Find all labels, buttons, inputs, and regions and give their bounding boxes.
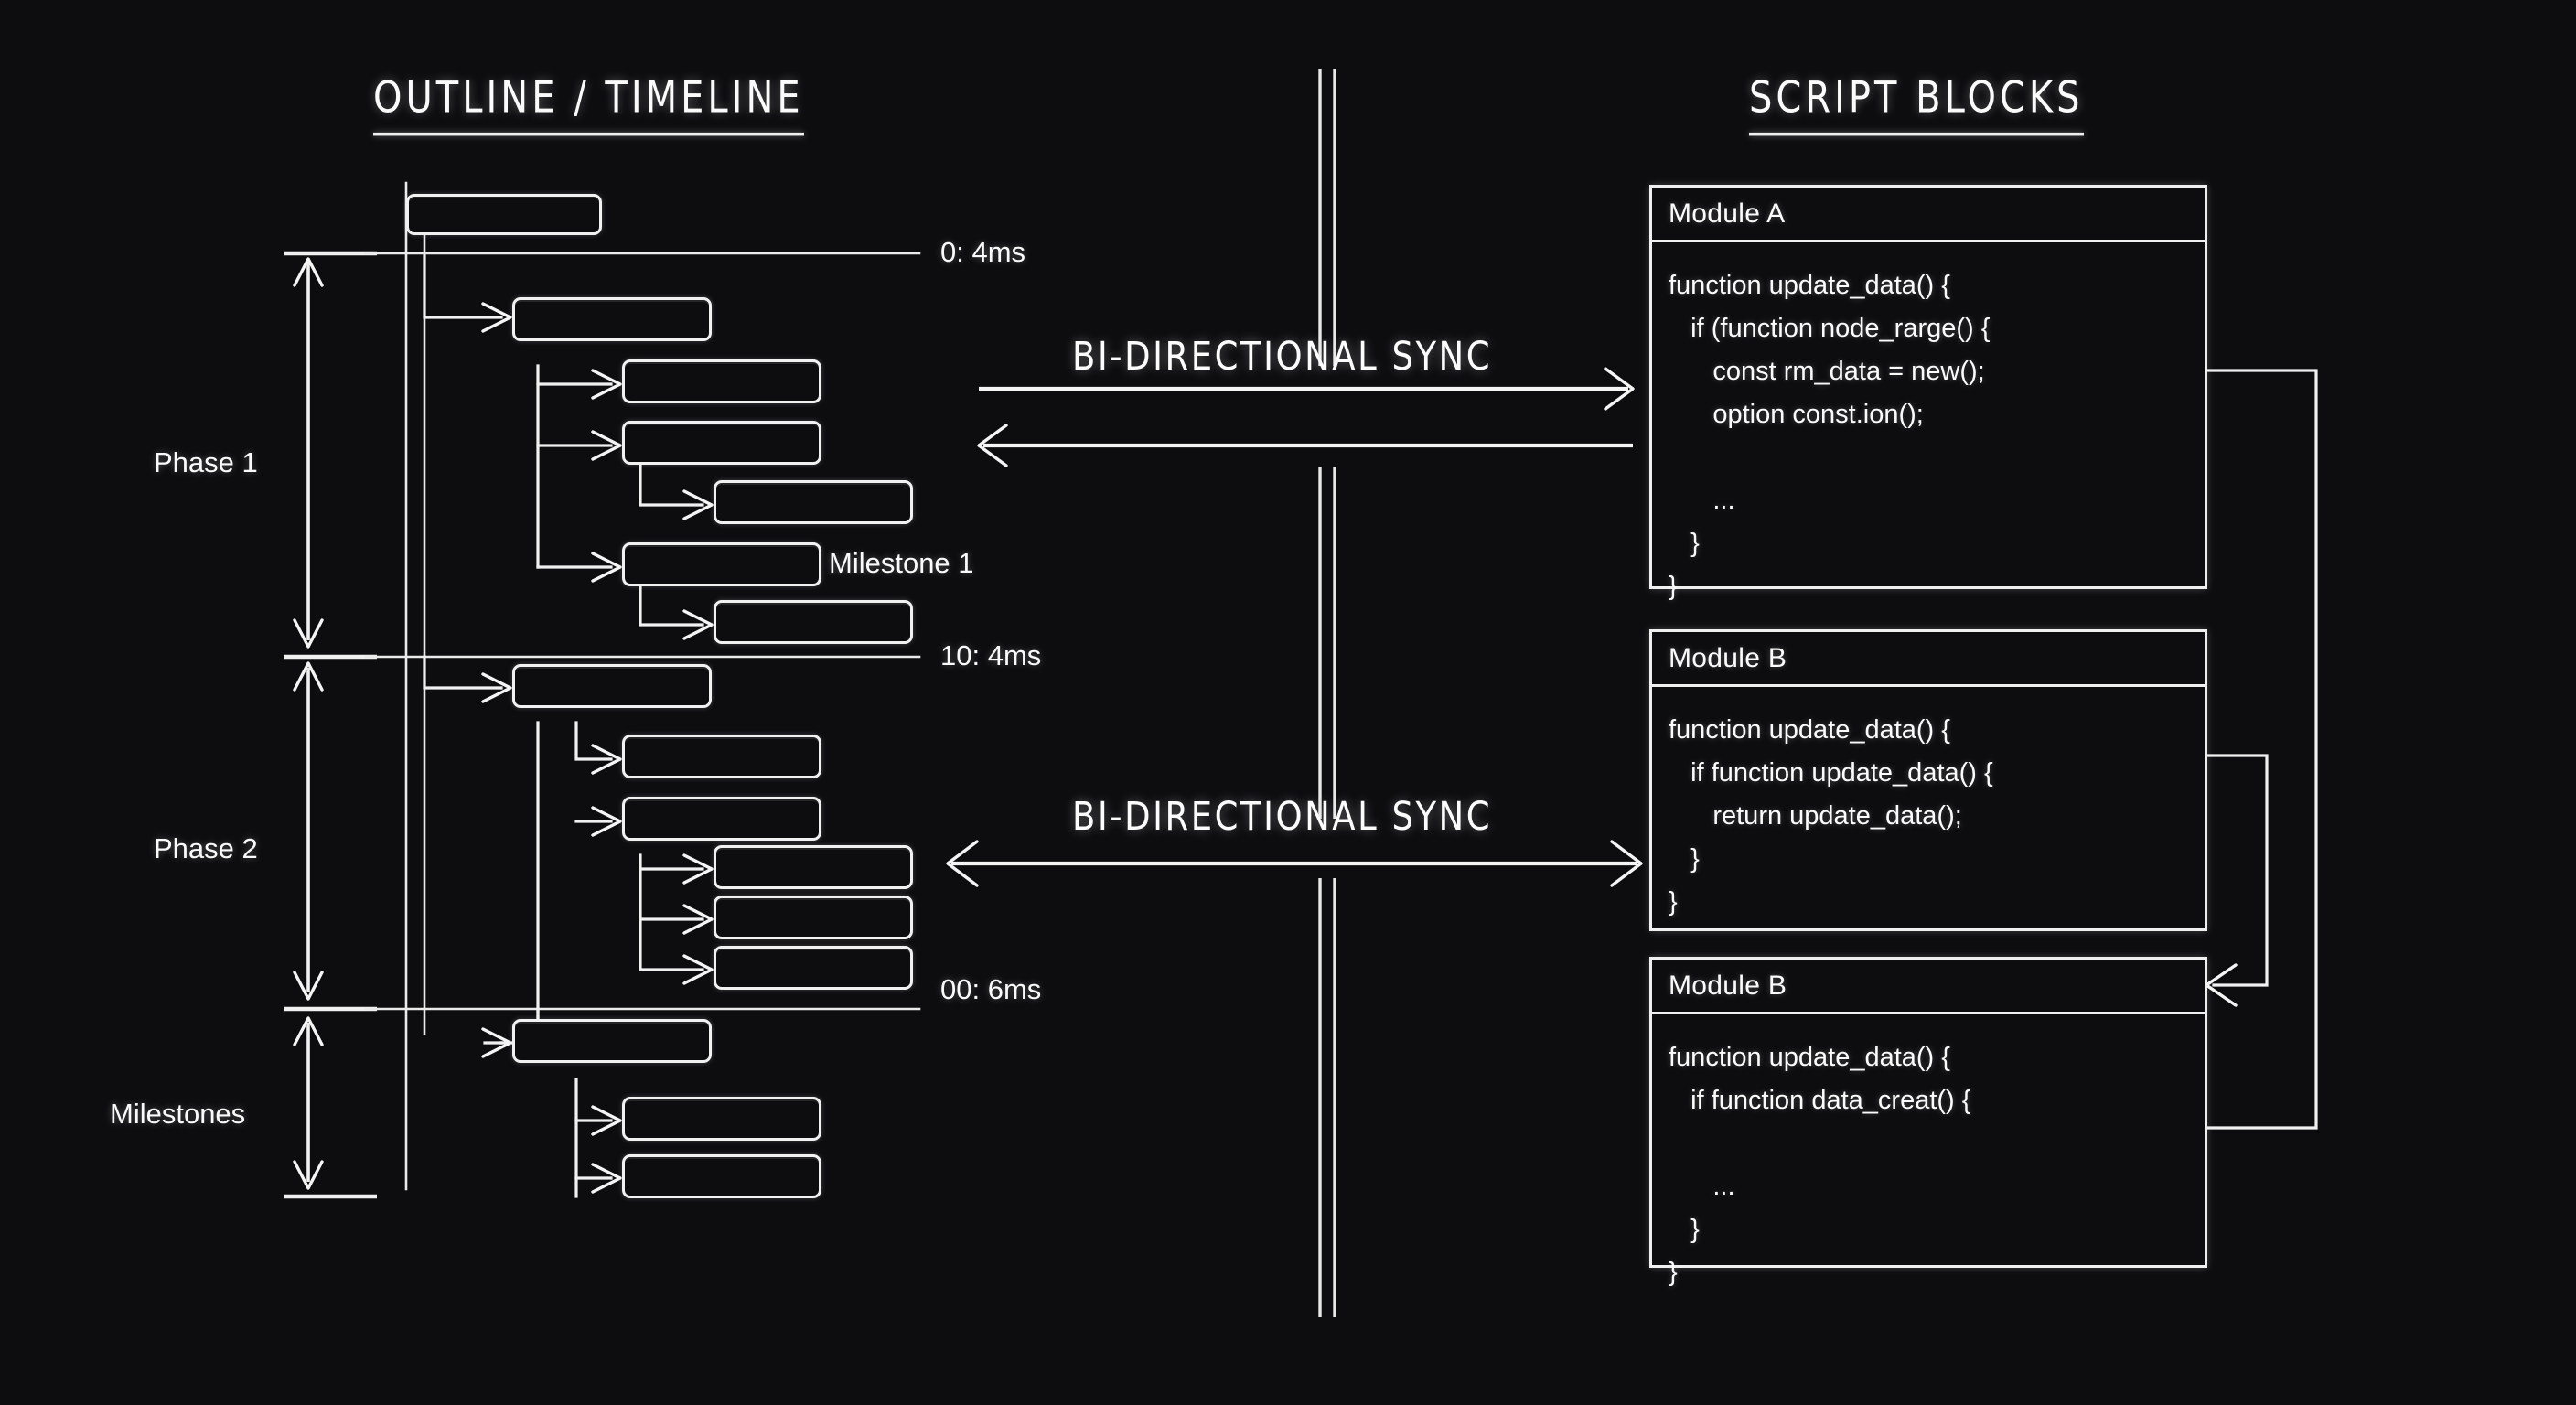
- module-card-b2[interactable]: Module B function update_data() { if fun…: [1649, 957, 2207, 1268]
- code-line: }: [1669, 838, 2205, 881]
- module-card-a[interactable]: Module A function update_data() { if (fu…: [1649, 185, 2207, 589]
- code-line: [1669, 1122, 2205, 1165]
- code-line: }: [1669, 1251, 2205, 1294]
- outline-node-p2-f[interactable]: [714, 946, 913, 990]
- outline-node-p1-f[interactable]: [714, 600, 913, 644]
- module-title-b1: Module B: [1669, 643, 1787, 674]
- outline-spine: [406, 183, 424, 1189]
- tree-connectors-phase2: [424, 657, 712, 1043]
- module-title-b2: Module B: [1669, 971, 1787, 1002]
- panel-title-script-blocks-text: SCRIPT BLOCKS: [1749, 73, 2084, 123]
- panel-title-script-blocks-rule: [1749, 133, 2084, 136]
- module-feedback-wires: [2206, 370, 2316, 1128]
- module-header-b1: Module B: [1652, 632, 2205, 687]
- module-body-b2: function update_data() { if function dat…: [1652, 1014, 2205, 1294]
- code-line: if function data_creat() {: [1669, 1079, 2205, 1122]
- panel-title-outline-text: OUTLINE / TIMELINE: [373, 73, 804, 123]
- code-line: }: [1669, 1208, 2205, 1251]
- phase-label-milestones: Milestones: [110, 1098, 245, 1131]
- module-header-a: Module A: [1652, 188, 2205, 242]
- outline-node-p2-d[interactable]: [714, 845, 913, 889]
- time-marker-2: 00: 6ms: [940, 973, 1041, 1006]
- outline-node-p1-a[interactable]: [512, 297, 712, 341]
- code-line: }: [1669, 522, 2205, 565]
- code-line: function update_data() {: [1669, 1036, 2205, 1079]
- sync-arrows-top: [979, 369, 1633, 466]
- outline-node-root[interactable]: [406, 194, 602, 235]
- outline-node-p1-d[interactable]: [714, 480, 913, 524]
- time-marker-0: 0: 4ms: [940, 236, 1025, 269]
- outline-node-ms-b[interactable]: [622, 1097, 821, 1141]
- outline-node-p2-a[interactable]: [512, 664, 712, 708]
- panel-title-outline: OUTLINE / TIMELINE: [373, 73, 804, 135]
- code-line: if (function node_rarge() {: [1669, 307, 2205, 350]
- outline-node-p2-b[interactable]: [622, 735, 821, 778]
- code-line: [1669, 436, 2205, 479]
- sync-caption-bottom: BI-DIRECTIONAL SYNC: [1072, 794, 1492, 839]
- time-marker-1: 10: 4ms: [940, 639, 1041, 672]
- panel-title-script-blocks: SCRIPT BLOCKS: [1749, 73, 2084, 135]
- sync-caption-top: BI-DIRECTIONAL SYNC: [1072, 334, 1492, 379]
- center-divider: [1320, 69, 1335, 1317]
- outline-node-ms-a[interactable]: [512, 1019, 712, 1063]
- module-header-b2: Module B: [1652, 960, 2205, 1014]
- code-line: }: [1669, 565, 2205, 608]
- code-line: function update_data() {: [1669, 264, 2205, 307]
- node-annotation-milestone-1: Milestone 1: [829, 547, 974, 580]
- outline-node-p1-e[interactable]: [622, 542, 821, 586]
- phase-bracket-group: [284, 253, 377, 1196]
- phase-label-2: Phase 2: [154, 832, 258, 865]
- outline-node-p2-e[interactable]: [714, 896, 913, 939]
- code-line: option const.ion();: [1669, 393, 2205, 436]
- phase-label-1: Phase 1: [154, 446, 258, 479]
- code-line: const rm_data = new();: [1669, 350, 2205, 393]
- code-line: ...: [1669, 1165, 2205, 1208]
- diagram-canvas: OUTLINE / TIMELINE SCRIPT BLOCKS Phase 1…: [0, 0, 2576, 1405]
- code-line: function update_data() {: [1669, 709, 2205, 752]
- module-title-a: Module A: [1669, 198, 1785, 230]
- code-line: return update_data();: [1669, 795, 2205, 838]
- panel-title-outline-rule: [373, 133, 804, 136]
- outline-node-p1-c[interactable]: [622, 421, 821, 465]
- sync-arrow-bottom: [948, 842, 1641, 885]
- code-line: ...: [1669, 479, 2205, 522]
- outline-node-p2-c[interactable]: [622, 797, 821, 841]
- module-body-b1: function update_data() { if function upd…: [1652, 687, 2205, 924]
- module-body-a: function update_data() { if (function no…: [1652, 242, 2205, 608]
- outline-node-ms-c[interactable]: [622, 1154, 821, 1198]
- code-line: }: [1669, 881, 2205, 924]
- outline-node-p1-b[interactable]: [622, 359, 821, 403]
- code-line: if function update_data() {: [1669, 752, 2205, 795]
- module-card-b1[interactable]: Module B function update_data() { if fun…: [1649, 629, 2207, 931]
